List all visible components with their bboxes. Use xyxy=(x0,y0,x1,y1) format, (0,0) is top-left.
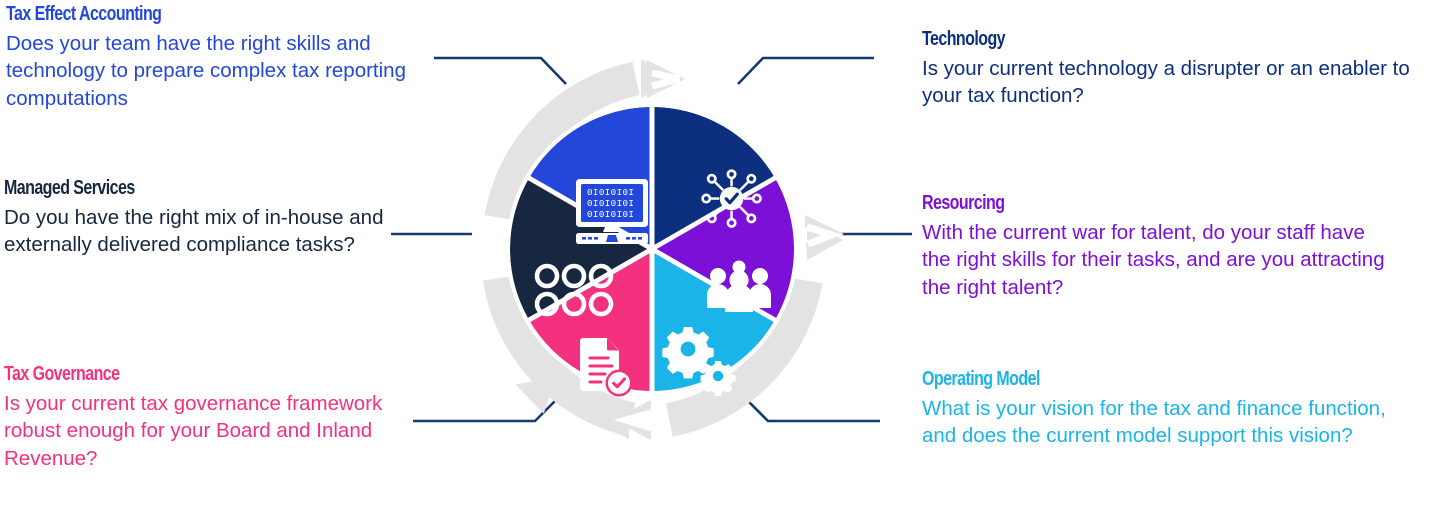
monitor-binary-code-icon: 0I0I0I0I 0I0I0I0I 0I0I0I0I xyxy=(576,179,648,244)
callout-title-operating-model: Operating Model xyxy=(922,369,1298,390)
callout-question-operating-model: What is your vision for the tax and fina… xyxy=(922,395,1392,450)
callout-question-resourcing: With the current war for talent, do your… xyxy=(922,219,1392,301)
callout-title-technology: Technology xyxy=(922,29,1330,50)
callout-title-tax-governance: Tax Governance xyxy=(4,364,332,385)
callout-operating-model: Operating Model What is your vision for … xyxy=(922,369,1392,450)
callout-question-tax-governance: Is your current tax governance framework… xyxy=(4,390,414,472)
callout-tax-effect-accounting: Tax Effect Accounting Does your team hav… xyxy=(6,4,446,112)
svg-text:0I0I0I0I: 0I0I0I0I xyxy=(587,198,634,209)
callout-title-managed-services: Managed Services xyxy=(4,178,308,199)
diagram-canvas: 0I0I0I0I 0I0I0I0I 0I0I0I0I Tax E xyxy=(0,0,1440,507)
callout-question-technology: Is your current technology a disrupter o… xyxy=(922,55,1432,110)
callout-managed-services: Managed Services Do you have the right m… xyxy=(4,178,384,259)
callout-title-tax-effect-accounting: Tax Effect Accounting xyxy=(6,4,358,25)
callout-tax-governance: Tax Governance Is your current tax gover… xyxy=(4,364,414,472)
callout-question-managed-services: Do you have the right mix of in-house an… xyxy=(4,204,384,259)
callout-technology: Technology Is your current technology a … xyxy=(922,29,1432,110)
callout-question-tax-effect-accounting: Does your team have the right skills and… xyxy=(6,30,446,112)
svg-text:0I0I0I0I: 0I0I0I0I xyxy=(587,187,634,198)
people-group-icon xyxy=(707,261,771,313)
svg-text:0I0I0I0I: 0I0I0I0I xyxy=(587,209,634,220)
process-wheel: 0I0I0I0I 0I0I0I0I 0I0I0I0I xyxy=(455,52,849,446)
callout-resourcing: Resourcing With the current war for tale… xyxy=(922,193,1392,301)
callout-title-resourcing: Resourcing xyxy=(922,193,1298,214)
wheel-segments-exact xyxy=(510,107,794,391)
